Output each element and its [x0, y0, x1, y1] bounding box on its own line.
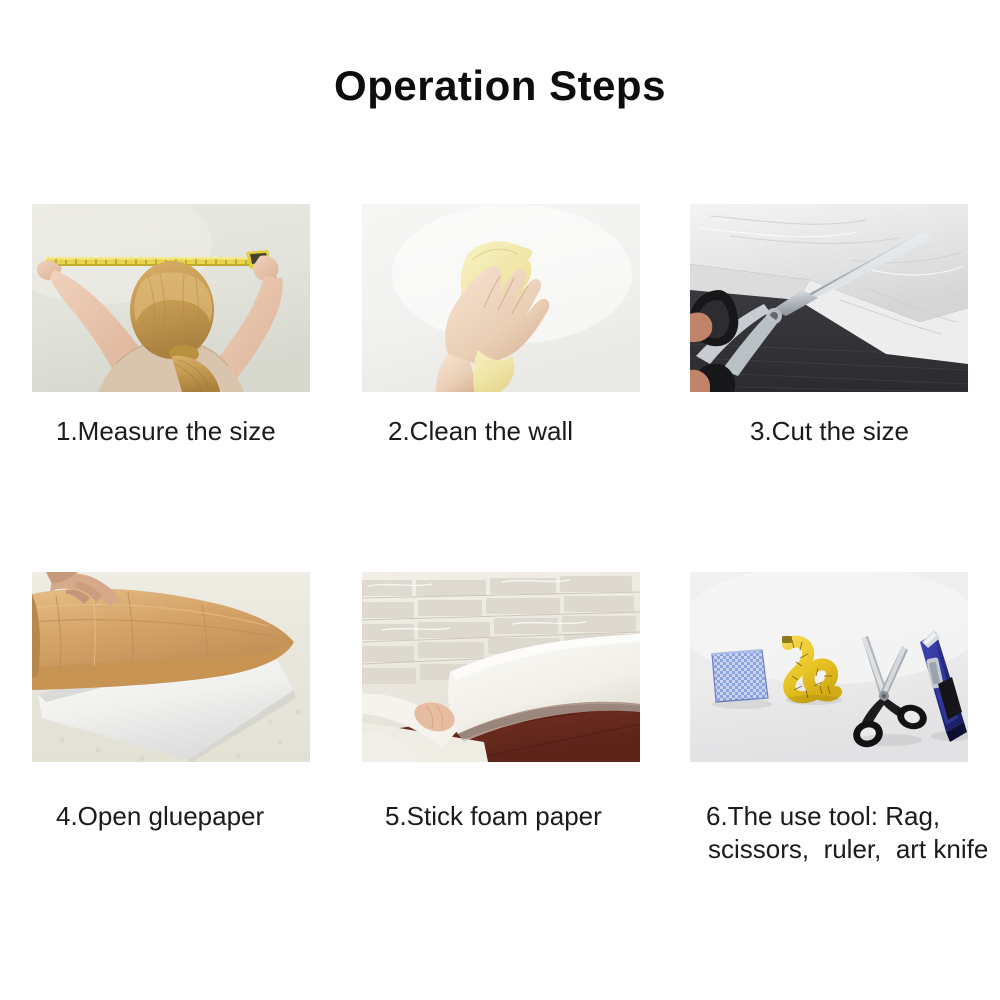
- measure-the-size-photo: [32, 204, 310, 392]
- steps-grid: 1.Measure the size: [0, 0, 1000, 1000]
- step-4-caption: 4.Open gluepaper: [56, 800, 264, 833]
- step-6-caption-line-2: scissors, ruler, art knife: [708, 833, 988, 866]
- cut-the-size-photo: [690, 204, 968, 392]
- step-2-caption: 2.Clean the wall: [388, 415, 573, 448]
- step-6-caption: 6.The use tool: Rag,scissors, ruler, art…: [706, 800, 988, 866]
- open-gluepaper-photo: [32, 572, 310, 762]
- use-tools-photo: [690, 572, 968, 762]
- step-6-caption-line-1: 6.The use tool: Rag,: [706, 801, 940, 831]
- clean-the-wall-photo: [362, 204, 640, 392]
- operation-steps-page: Operation Steps: [0, 0, 1000, 1000]
- step-3-caption: 3.Cut the size: [750, 415, 909, 448]
- step-1-caption: 1.Measure the size: [56, 415, 276, 448]
- stick-foam-paper-photo: [362, 572, 640, 762]
- step-5-caption: 5.Stick foam paper: [385, 800, 602, 833]
